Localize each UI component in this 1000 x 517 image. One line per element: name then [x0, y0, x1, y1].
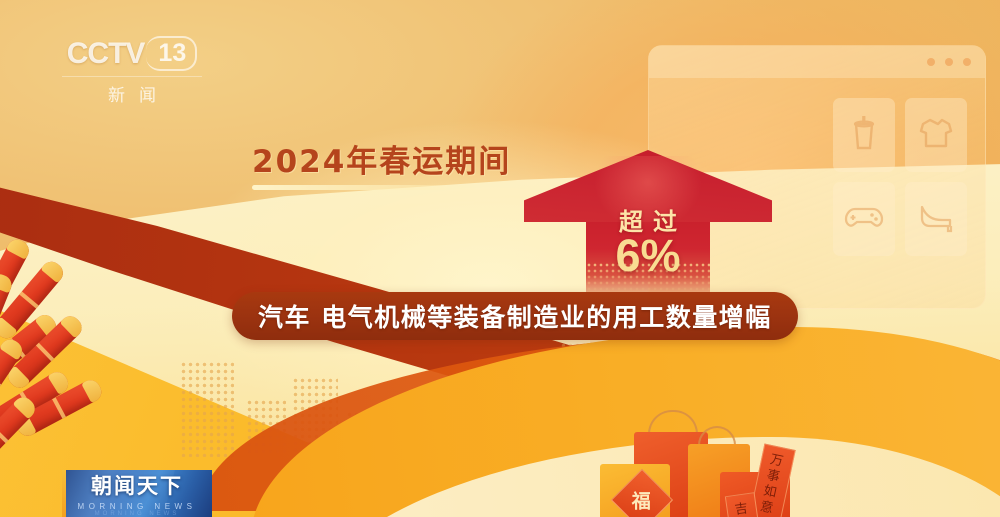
status-banner: 汽车 电气机械等装备制造业的用工数量增幅 [232, 292, 798, 340]
product-tile [833, 98, 895, 172]
cctv-logo-sub: 新闻 [62, 76, 202, 106]
product-tile [833, 182, 895, 256]
program-logo-edge [62, 470, 66, 517]
headline-title-block: 2024年春运期间 [252, 136, 511, 190]
stat-value: 6% [524, 230, 772, 282]
cctv-logo-number: 13 [146, 36, 197, 71]
program-name-en: MORNING NEWS [78, 502, 197, 511]
game-controller-icon [844, 204, 884, 235]
window-dot-icon [945, 58, 953, 66]
window-dot-icon [963, 58, 971, 66]
fu-character-label: 福 [632, 486, 651, 513]
shopping-bag-icon: 福 万事如意 吉祥 [580, 398, 910, 517]
status-banner-text: 汽车 电气机械等装备制造业的用工数量增幅 [258, 298, 772, 334]
firecracker-bundle-icon [0, 232, 162, 482]
broadcast-screenshot: 福 万事如意 吉祥 CCTV 13 新闻 2024年春运期间 超过 6% 汽车 … [0, 0, 1000, 517]
program-name-en-shadow: MORNING NEWS [95, 511, 180, 517]
up-arrow-icon: 超过 6% [524, 150, 772, 298]
cup-icon [851, 114, 877, 157]
high-heel-icon [918, 201, 954, 238]
program-logo: 朝闻天下 MORNING NEWS MORNING NEWS [62, 470, 212, 517]
page-title: 2024年春运期间 [252, 136, 511, 181]
tshirt-icon [918, 117, 954, 154]
product-tile [905, 98, 967, 172]
cctv-logo-main: CCTV [67, 37, 145, 71]
window-dot-icon [927, 58, 935, 66]
browser-title-bar [649, 46, 985, 78]
title-underline [252, 185, 477, 190]
product-tile [905, 182, 967, 256]
product-tile-grid [833, 98, 967, 256]
program-name-cn: 朝闻天下 [91, 470, 183, 500]
cctv-channel-logo: CCTV 13 新闻 [62, 36, 202, 106]
